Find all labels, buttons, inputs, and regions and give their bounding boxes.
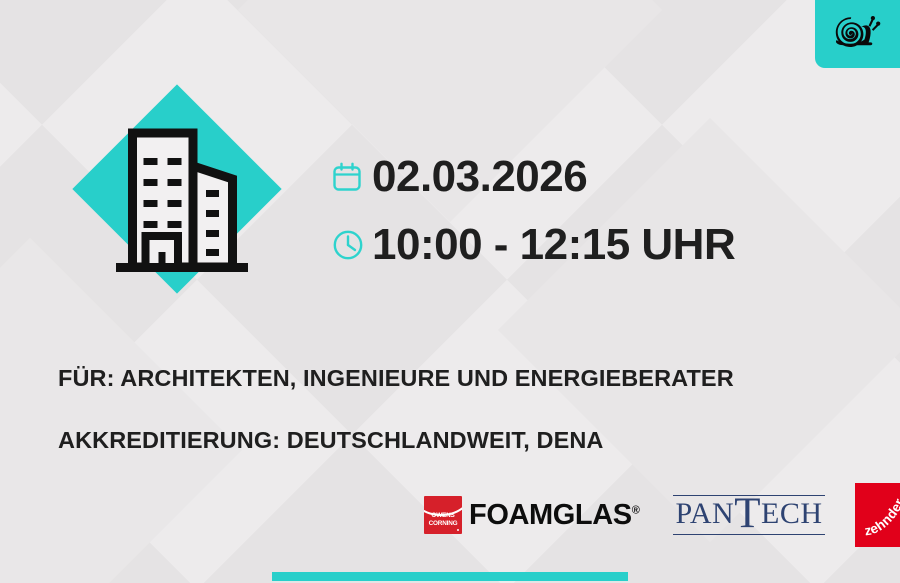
foamglas-trademark-symbol: ® <box>632 504 640 516</box>
pantech-wordmark-p: P <box>675 497 689 530</box>
owens-corning-line1: OWENS <box>424 512 462 519</box>
calendar-icon <box>332 162 372 192</box>
sponsor-logo-foamglas[interactable]: OWENS CORNING FOAMGLAS® <box>424 496 639 534</box>
office-building-icon <box>62 100 292 305</box>
pantech-wordmark-t: T <box>734 490 761 537</box>
sponsor-logo-pantech[interactable]: PANTECH <box>673 495 824 535</box>
snail-icon <box>833 13 883 55</box>
event-datetime-group: 02.03.2026 10:00 - 12:15 UHR <box>332 143 735 279</box>
owens-corning-dot-icon <box>457 529 460 532</box>
hero-icon-group <box>62 100 292 300</box>
foamglas-wordmark: FOAMGLAS® <box>469 499 639 532</box>
svg-text:zehnder: zehnder <box>863 496 900 539</box>
owens-corning-line2: CORNING <box>424 520 462 527</box>
zehnder-wordmark-text: zehnder <box>863 496 900 539</box>
footer-accent-bar <box>272 572 628 581</box>
event-promo-poster: 02.03.2026 10:00 - 12:15 UHR FÜR: ARCHIT… <box>0 0 900 583</box>
sponsor-logo-zehnder[interactable]: zehnder <box>855 483 900 547</box>
pantech-wordmark-ech: ECH <box>761 497 823 530</box>
clock-icon <box>332 229 372 261</box>
audience-label: FÜR: ARCHITEKTEN, INGENIEURE UND ENERGIE… <box>58 365 734 392</box>
zehnder-wordmark: zehnder <box>855 483 900 547</box>
owens-corning-mark-icon: OWENS CORNING <box>424 496 462 534</box>
event-date-row: 02.03.2026 <box>332 143 735 211</box>
event-time-value: 10:00 - 12:15 UHR <box>372 223 735 267</box>
pantech-wordmark: PANTECH <box>673 498 824 532</box>
sponsor-logo-strip: OWENS CORNING FOAMGLAS® PANTECH zehnder <box>424 483 894 547</box>
foamglas-wordmark-text: FOAMGLAS <box>469 499 632 531</box>
event-time-row: 10:00 - 12:15 UHR <box>332 211 735 279</box>
accreditation-label: AKKREDITIERUNG: DEUTSCHLANDWEIT, DENA <box>58 427 604 454</box>
pantech-wordmark-an: AN <box>690 497 734 530</box>
owens-corning-mark-text: OWENS CORNING <box>424 512 462 527</box>
event-date-value: 02.03.2026 <box>372 155 587 199</box>
brand-badge[interactable] <box>815 0 900 68</box>
